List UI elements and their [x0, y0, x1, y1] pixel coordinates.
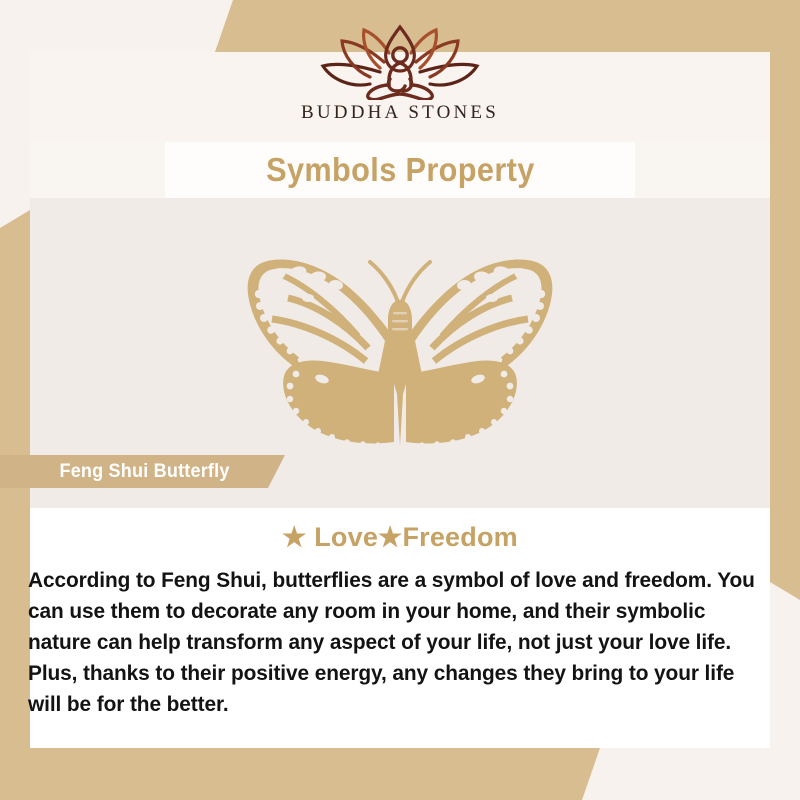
frame-band-left: [0, 210, 30, 800]
brand-header: BUDDHA STONES: [30, 52, 770, 140]
feng-shui-banner: Feng Shui Butterfly: [0, 455, 285, 488]
butterfly-icon: [226, 246, 574, 461]
content-card: BUDDHA STONES Symbols Property: [30, 52, 770, 748]
frame-band-right: [770, 0, 800, 600]
banner-label: Feng Shui Butterfly: [59, 461, 229, 483]
subheading: ★ Love★Freedom: [30, 508, 770, 553]
frame-band-bottom: [0, 748, 600, 800]
brand-name: BUDDHA STONES: [301, 102, 499, 124]
title-ribbon: Symbols Property: [165, 142, 635, 198]
description-panel: ★ Love★Freedom According to Feng Shui, b…: [30, 508, 770, 748]
lotus-meditation-icon: [310, 22, 490, 100]
body-paragraph: According to Feng Shui, butterflies are …: [28, 553, 773, 720]
frame-band-top: [215, 0, 800, 52]
page-title: Symbols Property: [266, 151, 535, 189]
poster-root: BUDDHA STONES Symbols Property: [0, 0, 800, 800]
